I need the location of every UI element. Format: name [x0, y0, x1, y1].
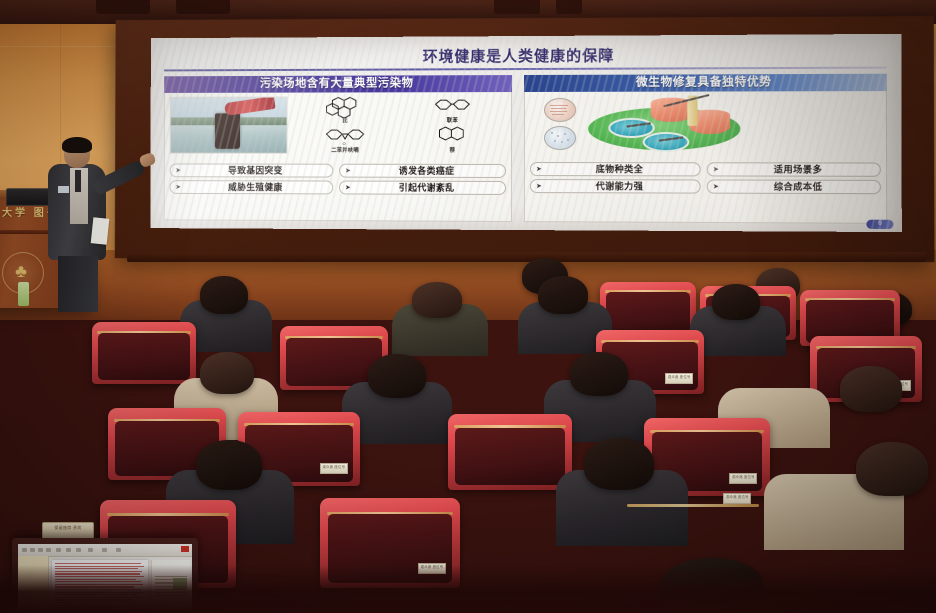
slide-right-panel: 微生物修复具备独特优势: [524, 74, 887, 224]
seat-plaque-label: 观众席 座位号: [321, 464, 347, 469]
bullet-label: 底物种类全: [596, 164, 643, 174]
audience-head: [570, 352, 628, 396]
bullet-pill: ➤ 综合成本低: [707, 179, 881, 194]
left-panel-bullets: ➤ 导致基因突变 ➤ 诱发各类癌症 ➤ 威胁生殖健康: [170, 163, 506, 195]
chemical-biphenyl: 联苯: [399, 96, 506, 125]
arrow-icon: ➤: [713, 180, 719, 193]
arrow-icon: ➤: [175, 181, 181, 194]
ceiling-panel: [96, 0, 150, 14]
bullet-pill: ➤ 引起代谢紊乱: [339, 181, 506, 195]
chemical-name: 二苯并呋喃: [292, 148, 398, 155]
contaminated-water-sample-icon: [170, 97, 288, 154]
slide-left-panel: 污染场地含有大量典型污染物: [164, 75, 512, 222]
slide-conclusion: 微生物技术已成为典型污染物降解的重要抓手: [160, 226, 892, 232]
arrow-icon: ➤: [536, 180, 542, 193]
slide-page-badge: 6: [866, 220, 893, 229]
seat: [92, 322, 196, 384]
seat: [600, 282, 696, 336]
audience-head: [200, 276, 248, 314]
presenter-figure-icon: [40, 140, 126, 310]
bullet-label: 诱发各类癌症: [399, 166, 455, 176]
audience-head: [584, 438, 654, 490]
arrow-icon: ➤: [175, 164, 181, 177]
bullet-pill: ➤ 威胁生殖健康: [170, 180, 334, 194]
title-divider: [164, 67, 887, 72]
seat-plaque: 观众席 座位号: [723, 493, 751, 504]
seat-plaque-label: 保留座席 贵宾: [43, 523, 93, 530]
water-bottle-icon: [18, 282, 29, 306]
bullet-label: 引起代谢紊乱: [399, 183, 455, 193]
bullet-label: 导致基因突变: [228, 166, 283, 176]
right-panel-bullets: ➤ 底物种类全 ➤ 适用场景多 ➤ 代谢能力强: [530, 162, 881, 194]
audience-head: [368, 354, 426, 398]
right-panel-body: ➤ 底物种类全 ➤ 适用场景多 ➤ 代谢能力强: [524, 91, 887, 224]
bullet-label: 适用场景多: [774, 164, 822, 174]
ceiling-panel: [556, 0, 582, 14]
left-panel-body: 芘: [164, 92, 512, 222]
seat-plaque: 观众席 座位号: [320, 463, 348, 474]
chemical-structures: 芘: [292, 96, 506, 155]
audience-head: [712, 284, 760, 320]
chemical-naphthalene: 萘: [399, 126, 506, 155]
seat-plaque-label: 观众席 座位号: [724, 494, 750, 499]
seat-plaque-label: 观众席 座位号: [666, 374, 692, 379]
emblem-glyph: ♣: [10, 260, 32, 282]
seat-plaque: 观众席 座位号: [729, 473, 757, 484]
audience-head: [538, 276, 588, 314]
screen-bottom-rail: [127, 252, 926, 262]
bullet-label: 代谢能力强: [596, 181, 643, 191]
bullet-pill: ➤ 代谢能力强: [530, 179, 701, 194]
arrow-icon: ➤: [713, 163, 719, 176]
lecture-hall-photo: 环境健康是人类健康的保障 污染场地含有大量典型污染物: [0, 0, 936, 613]
svg-text:O: O: [343, 141, 346, 146]
arrow-icon: ➤: [345, 165, 351, 178]
left-panel-heading: 污染场地含有大量典型污染物: [164, 75, 512, 93]
chemical-dibenzofuran: O 二苯并呋喃: [292, 126, 398, 155]
ceiling-panel: [494, 0, 540, 14]
foreground-shadow: [0, 565, 936, 613]
bioremediation-plant-icon: [530, 95, 881, 158]
bullet-label: 综合成本低: [774, 182, 822, 192]
right-panel-heading: 微生物修复具备独特优势: [524, 74, 887, 92]
audience-head: [412, 282, 462, 318]
audience-head: [200, 352, 254, 394]
bullet-label: 威胁生殖健康: [228, 182, 283, 192]
projection-screen: 环境健康是人类健康的保障 污染场地含有大量典型污染物: [150, 34, 902, 232]
audience-head: [856, 442, 928, 496]
arrow-icon: ➤: [345, 182, 351, 195]
slide-title: 环境健康是人类健康的保障: [160, 43, 891, 67]
projection-screen-frame: 环境健康是人类健康的保障 污染场地含有大量典型污染物: [115, 16, 935, 262]
bullet-pill: ➤ 导致基因突变: [170, 163, 334, 177]
audience-head: [196, 440, 262, 490]
ceiling-panel: [176, 0, 230, 14]
bullet-pill: ➤ 底物种类全: [530, 162, 701, 176]
seat-plaque-label: 观众席 座位号: [730, 474, 756, 479]
audience-head: [840, 366, 902, 412]
arrow-icon: ➤: [536, 163, 542, 176]
seat-plaque: 观众席 座位号: [665, 373, 693, 384]
chemical-name: 芘: [292, 118, 398, 125]
seat: [448, 414, 572, 490]
bullet-pill: ➤ 诱发各类癌症: [339, 164, 506, 178]
chemical-name: 联苯: [399, 118, 506, 125]
chemical-pyrene: 芘: [292, 96, 398, 125]
bullet-pill: ➤ 适用场景多: [707, 162, 881, 177]
presentation-slide: 环境健康是人类健康的保障 污染场地含有大量典型污染物: [150, 34, 902, 232]
chemical-name: 萘: [399, 148, 506, 155]
